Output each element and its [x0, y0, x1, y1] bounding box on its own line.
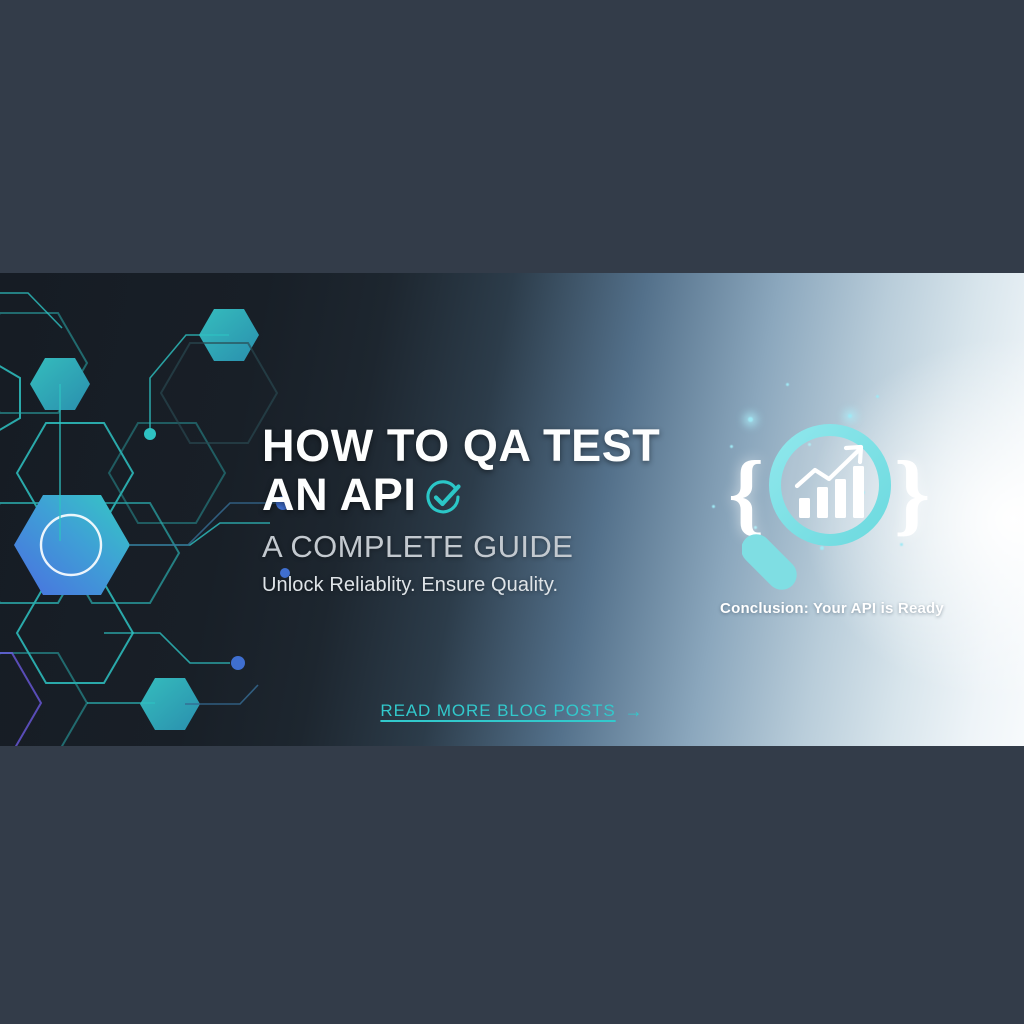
magnifier-bar-chart-icon — [742, 413, 912, 603]
cta-row: READ MORE BLOG POSTS → — [0, 701, 1024, 721]
api-ready-graphic: { } — [712, 413, 942, 613]
graphic-caption: Conclusion: Your API is Ready — [712, 600, 952, 617]
hero-tagline: Unlock Reliablity. Ensure Quality. — [262, 573, 692, 597]
banner-inner: HOW TO QA TEST AN API A COMPLETE GUIDE U… — [0, 273, 1024, 746]
hero-subtitle: A COMPLETE GUIDE — [262, 530, 692, 564]
cta-label: READ MORE BLOG POSTS — [380, 701, 615, 721]
arrow-right-icon: → — [625, 702, 644, 720]
hero-copy-block: HOW TO QA TEST AN API A COMPLETE GUIDE U… — [262, 421, 692, 597]
hero-headline-line2: AN API — [262, 470, 416, 519]
sparkle-dot — [876, 395, 879, 398]
circle-check-icon — [424, 477, 464, 517]
hero-headline-line2-row: AN API — [262, 470, 692, 519]
screen-canvas: HOW TO QA TEST AN API A COMPLETE GUIDE U… — [0, 0, 1024, 1024]
blog-hero-banner: HOW TO QA TEST AN API A COMPLETE GUIDE U… — [0, 273, 1024, 746]
sparkle-dot — [786, 383, 789, 386]
read-more-blog-posts-link[interactable]: READ MORE BLOG POSTS → — [380, 701, 643, 721]
hero-headline-line1: HOW TO QA TEST — [262, 421, 692, 470]
